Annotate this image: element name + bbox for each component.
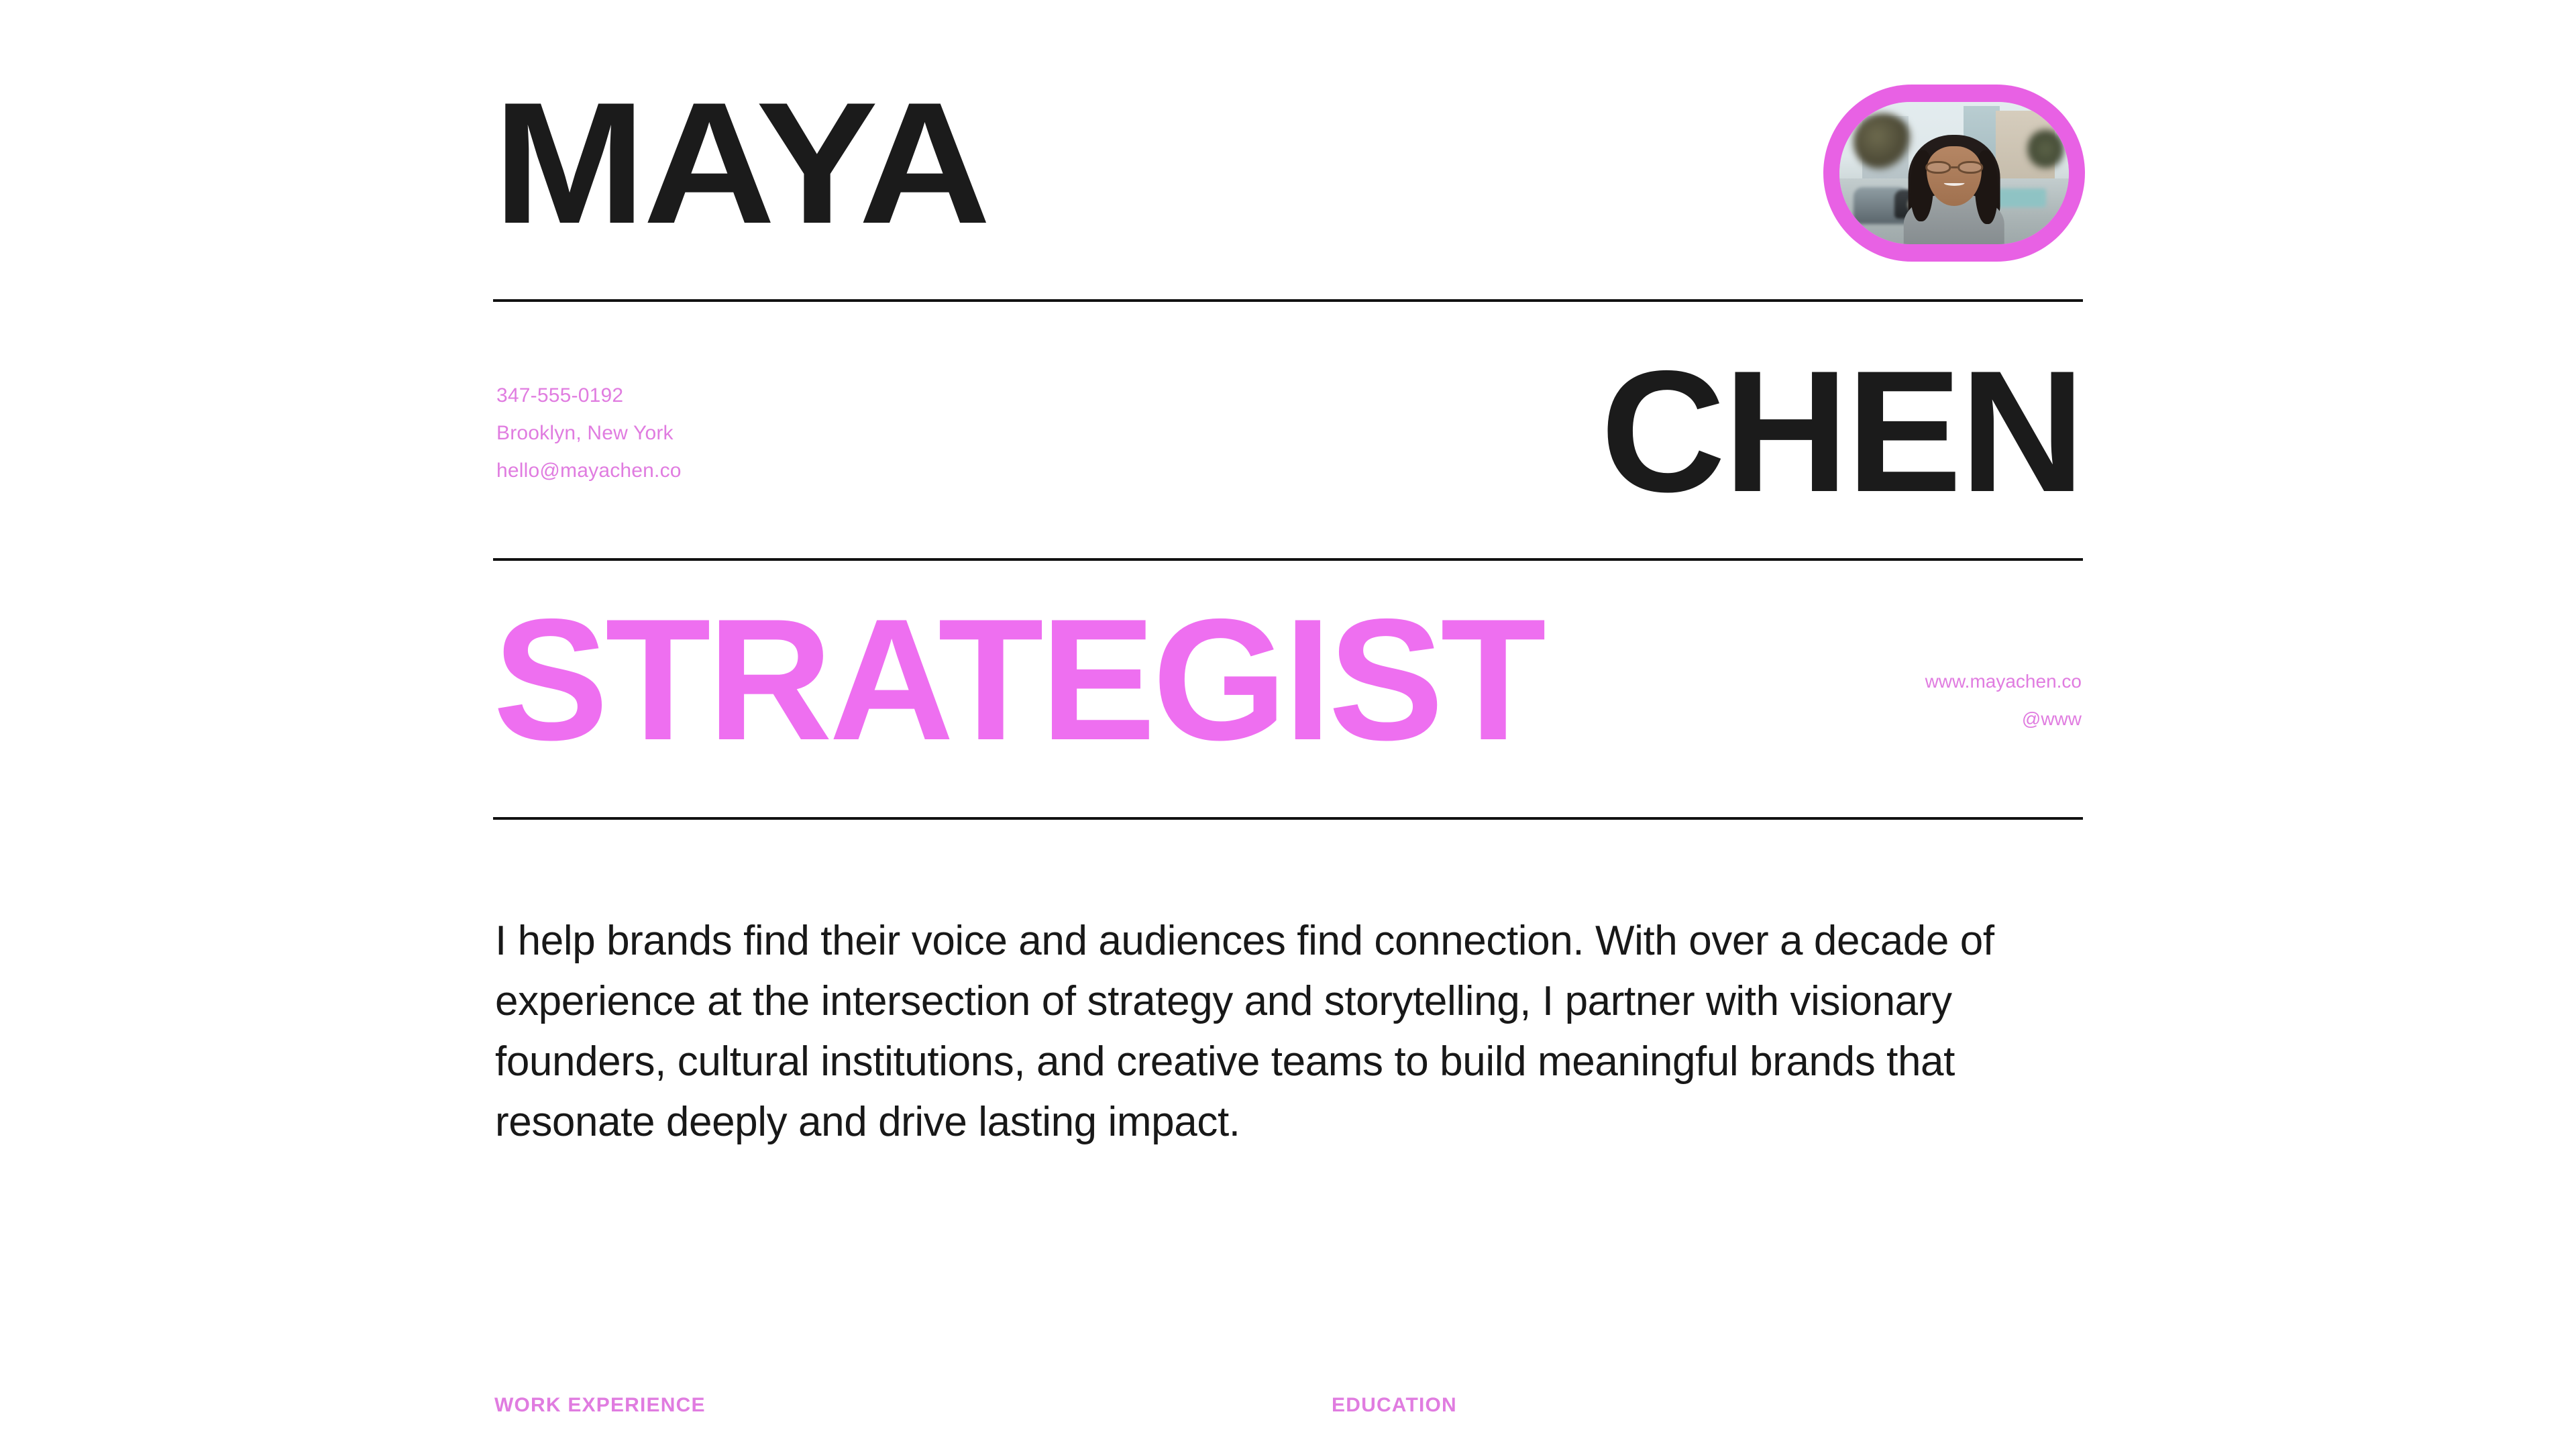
website-link[interactable]: www.mayachen.co (1925, 663, 2082, 700)
divider-middle (493, 558, 2083, 561)
contact-email[interactable]: hello@mayachen.co (496, 452, 682, 490)
last-name-heading: CHEN (1601, 349, 2083, 513)
divider-bottom (493, 817, 2083, 820)
resume-page: MAYA 3 (0, 0, 2576, 1449)
photo-tree-right (2027, 127, 2064, 170)
photo-teal-truck (1996, 189, 2046, 207)
contact-block: 347-555-0192 Brooklyn, New York hello@ma… (496, 377, 682, 490)
divider-top (493, 299, 2083, 302)
social-handle[interactable]: @www (1925, 700, 2082, 738)
avatar (1823, 85, 2085, 262)
photo-tree-left (1854, 113, 1913, 170)
first-name-heading: MAYA (493, 80, 988, 245)
section-label-education: EDUCATION (1332, 1394, 1457, 1417)
section-label-work-experience: WORK EXPERIENCE (494, 1394, 706, 1417)
avatar-photo (1839, 102, 2069, 244)
contact-phone[interactable]: 347-555-0192 (496, 377, 682, 415)
glasses-icon (1925, 161, 1983, 174)
contact-location: Brooklyn, New York (496, 415, 682, 452)
web-links-block: www.mayachen.co @www (1925, 663, 2082, 738)
summary-paragraph: I help brands find their voice and audie… (495, 911, 2092, 1152)
role-heading: STRATEGIST (493, 597, 1543, 761)
